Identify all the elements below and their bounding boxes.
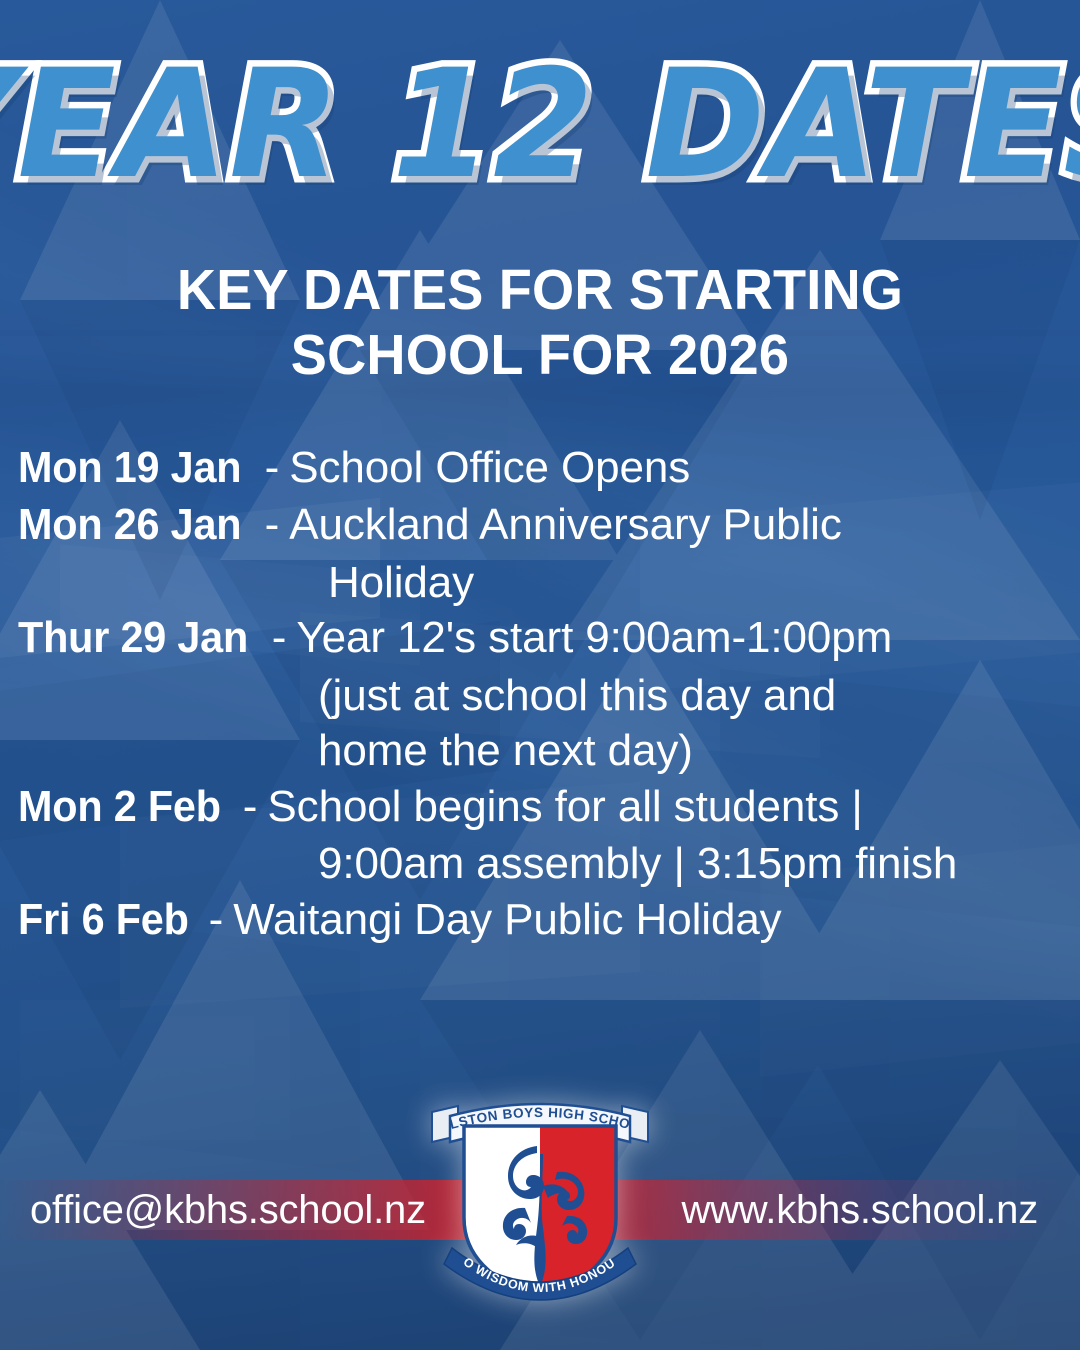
email-address[interactable]: office@kbhs.school.nz	[30, 1178, 426, 1242]
poster-canvas: YEAR 12 DATES KEY DATES FOR STARTING SCH…	[0, 0, 1080, 1350]
subtitle-line-2: SCHOOL FOR 2026	[27, 323, 1053, 388]
list-item: Mon 2 Feb - School begins for all studen…	[18, 779, 1056, 834]
date-description-continuation: (just at school this day and	[18, 668, 1056, 723]
date-description-continuation: Holiday	[18, 555, 1056, 610]
date-dash: -	[256, 497, 290, 552]
date-description: School begins for all students |	[267, 779, 862, 834]
poster-title-container: YEAR 12 DATES	[0, 30, 1080, 220]
date-label: Mon 26 Jan	[18, 497, 241, 552]
date-description-continuation: 9:00am assembly | 3:15pm finish	[18, 836, 1056, 891]
date-label: Mon 19 Jan	[18, 440, 241, 495]
key-dates-list: Mon 19 Jan - School Office Opens Mon 26 …	[18, 440, 1056, 949]
date-label: Thur 29 Jan	[18, 610, 248, 665]
list-item: Thur 29 Jan - Year 12's start 9:00am-1:0…	[18, 610, 1056, 665]
date-dash: -	[200, 892, 234, 947]
page-title: YEAR 12 DATES	[0, 50, 1080, 200]
date-description: Auckland Anniversary Public	[289, 497, 841, 552]
date-description: Year 12's start 9:00am-1:00pm	[296, 610, 892, 665]
subtitle-line-1: KEY DATES FOR STARTING	[177, 258, 903, 322]
date-description: Waitangi Day Public Holiday	[233, 892, 781, 947]
website-url[interactable]: www.kbhs.school.nz	[681, 1178, 1038, 1242]
date-dash: -	[256, 440, 290, 495]
list-item: Fri 6 Feb - Waitangi Day Public Holiday	[18, 892, 1056, 947]
list-item: Mon 19 Jan - School Office Opens	[18, 440, 1056, 495]
date-description-continuation: home the next day)	[18, 723, 1056, 778]
date-label: Fri 6 Feb	[18, 892, 189, 947]
school-crest-logo: KELSTON BOYS HIGH SCHOOL	[424, 1086, 656, 1314]
list-item: Mon 26 Jan - Auckland Anniversary Public	[18, 497, 1056, 552]
date-dash: -	[263, 610, 297, 665]
date-label: Mon 2 Feb	[18, 779, 221, 834]
poster-subtitle: KEY DATES FOR STARTING SCHOOL FOR 2026	[27, 258, 1053, 388]
date-dash: -	[234, 779, 268, 834]
date-description: School Office Opens	[289, 440, 690, 495]
